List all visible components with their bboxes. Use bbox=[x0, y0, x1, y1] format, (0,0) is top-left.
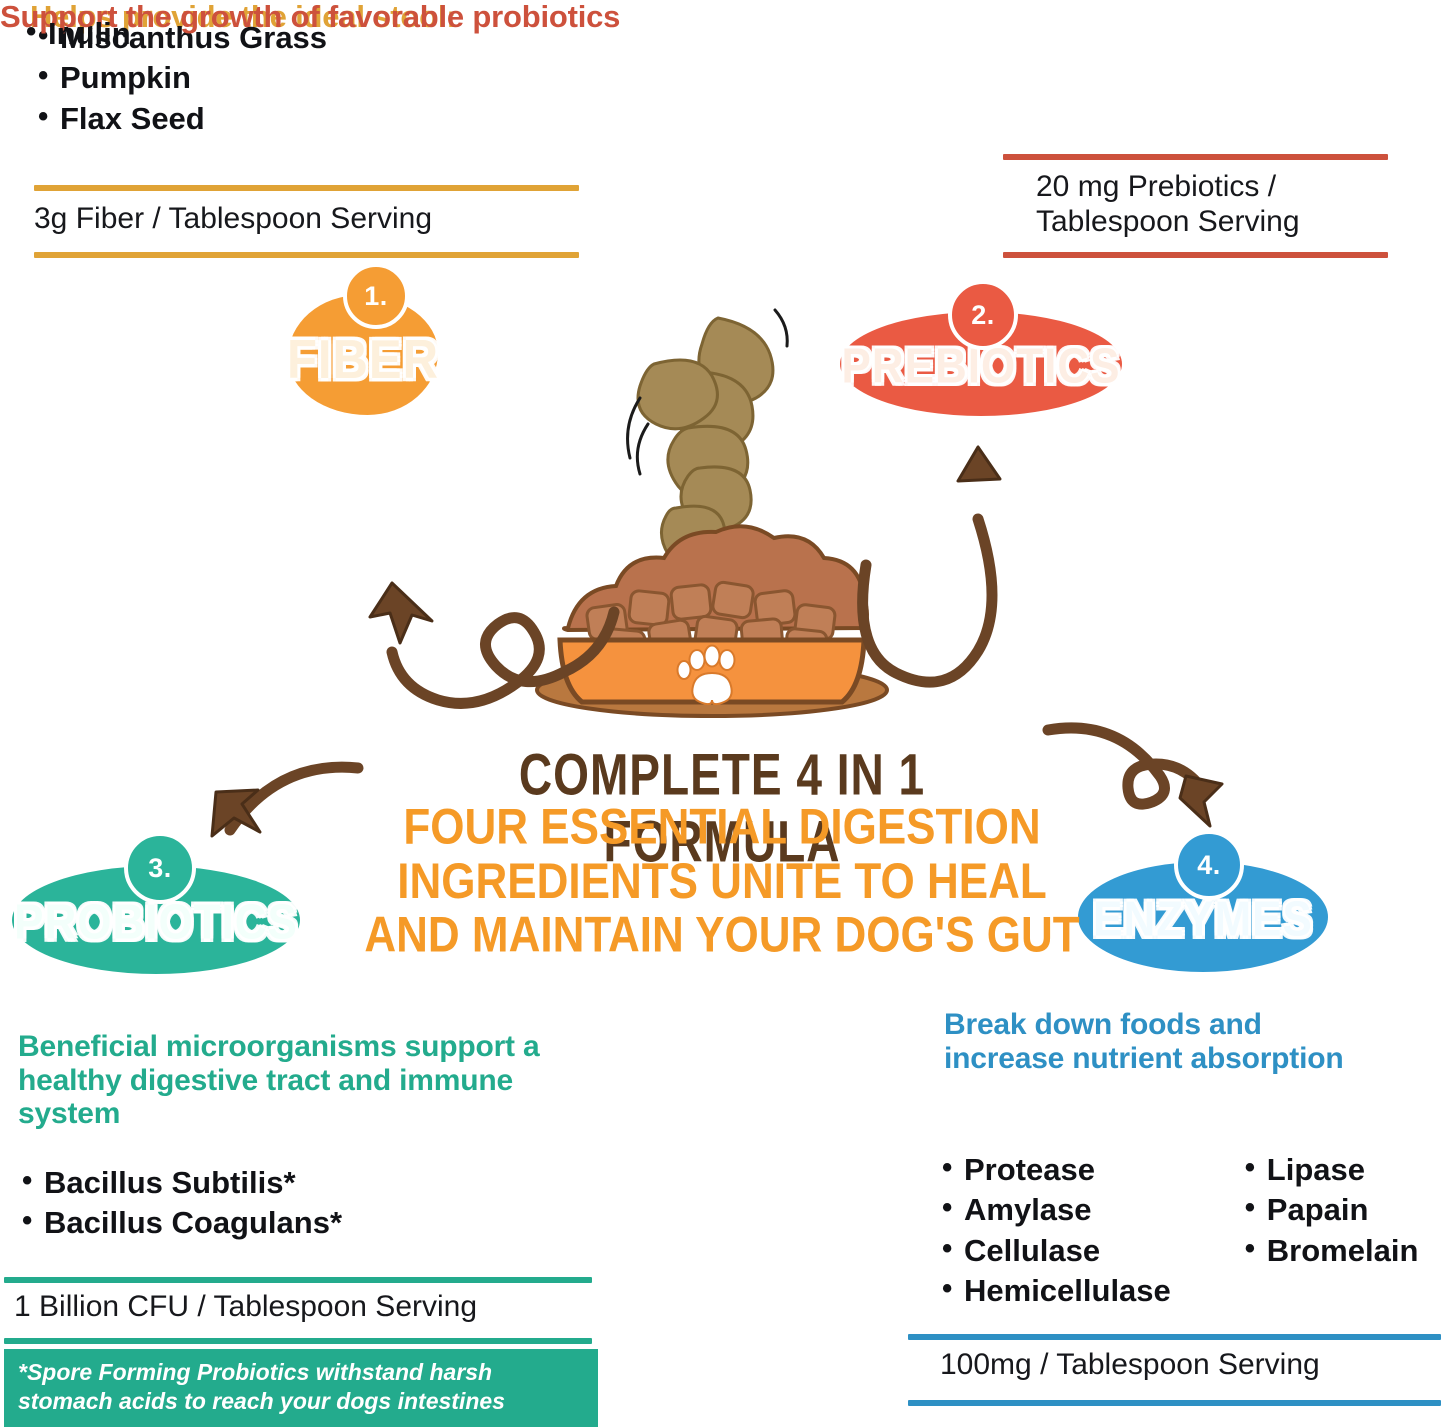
probiotics-footnote: *Spore Forming Probiotics withstand hars… bbox=[4, 1349, 598, 1427]
enzymes-ingredient-columns: Protease Amylase Cellulase Hemicellulase… bbox=[938, 1150, 1443, 1311]
center-subheadline-line3: AND MAINTAIN YOUR DOG'S GUT bbox=[352, 908, 1092, 962]
badge-fiber-label: FIBER bbox=[287, 329, 439, 392]
badge-prebiotics: 2. PREBIOTICS bbox=[840, 312, 1122, 416]
badge-enzymes-number: 4. bbox=[1174, 830, 1244, 900]
probiotics-divider-bottom bbox=[4, 1338, 592, 1344]
list-item: Protease bbox=[938, 1150, 1171, 1190]
badge-probiotics-number: 3. bbox=[124, 832, 196, 904]
paw-print-icon bbox=[678, 646, 735, 705]
badge-probiotics: 3. PROBIOTICS bbox=[12, 866, 300, 974]
arrow-to-prebiotics bbox=[863, 447, 1000, 682]
probiotics-description: Beneficial microorganisms support a heal… bbox=[18, 1030, 578, 1131]
prebiotics-serving-text: 20 mg Prebiotics / Tablespoon Serving bbox=[1036, 170, 1396, 240]
enzymes-serving-text: 100mg / Tablespoon Serving bbox=[940, 1348, 1440, 1383]
center-subheadline: FOUR ESSENTIAL DIGESTION INGREDIENTS UNI… bbox=[352, 800, 1092, 963]
fiber-divider-top bbox=[34, 185, 579, 191]
badge-prebiotics-number: 2. bbox=[948, 280, 1018, 350]
fiber-divider-bottom bbox=[34, 252, 579, 258]
list-item: Cellulase bbox=[938, 1231, 1171, 1271]
prebiotics-ingredient-list: Inulin bbox=[0, 14, 131, 54]
falling-kibble-group bbox=[628, 310, 788, 602]
list-item: Lipase bbox=[1241, 1150, 1419, 1190]
list-item: Inulin bbox=[22, 14, 131, 54]
enzymes-ingredient-list-col2: Lipase Papain Bromelain bbox=[1241, 1150, 1419, 1311]
enzymes-description: Break down foods and increase nutrient a… bbox=[944, 1008, 1374, 1075]
list-item: Bacillus Coagulans* bbox=[18, 1203, 342, 1243]
center-subheadline-line2: INGREDIENTS UNITE TO HEAL bbox=[352, 854, 1092, 908]
arrow-to-probiotics bbox=[212, 767, 358, 836]
probiotics-divider-top bbox=[4, 1277, 592, 1283]
enzymes-ingredient-list-col1: Protease Amylase Cellulase Hemicellulase bbox=[938, 1150, 1171, 1311]
list-item: Papain bbox=[1241, 1190, 1419, 1230]
probiotics-ingredient-list: Bacillus Subtilis* Bacillus Coagulans* bbox=[18, 1163, 342, 1244]
enzymes-divider-top bbox=[908, 1334, 1441, 1340]
fiber-serving-text: 3g Fiber / Tablespoon Serving bbox=[34, 202, 594, 237]
badge-enzymes-label: ENZYMES bbox=[1093, 892, 1313, 948]
badge-enzymes: 4. ENZYMES bbox=[1078, 862, 1328, 972]
list-item: Bromelain bbox=[1241, 1231, 1419, 1271]
prebiotics-divider-bottom bbox=[1003, 252, 1388, 258]
badge-fiber-number: 1. bbox=[343, 263, 409, 329]
center-subheadline-line1: FOUR ESSENTIAL DIGESTION bbox=[352, 800, 1092, 854]
probiotics-serving-text: 1 Billion CFU / Tablespoon Serving bbox=[14, 1290, 614, 1325]
dog-bowl bbox=[537, 526, 887, 716]
list-item: Flax Seed bbox=[34, 99, 327, 139]
arrow-to-fiber bbox=[370, 583, 614, 703]
prebiotics-divider-top bbox=[1003, 154, 1388, 160]
list-item: Bacillus Subtilis* bbox=[18, 1163, 342, 1203]
list-item: Pumpkin bbox=[34, 58, 327, 98]
enzymes-divider-bottom bbox=[908, 1400, 1441, 1406]
list-item: Amylase bbox=[938, 1190, 1171, 1230]
badge-fiber: 1. FIBER bbox=[288, 295, 438, 415]
list-item: Hemicellulase bbox=[938, 1271, 1171, 1311]
